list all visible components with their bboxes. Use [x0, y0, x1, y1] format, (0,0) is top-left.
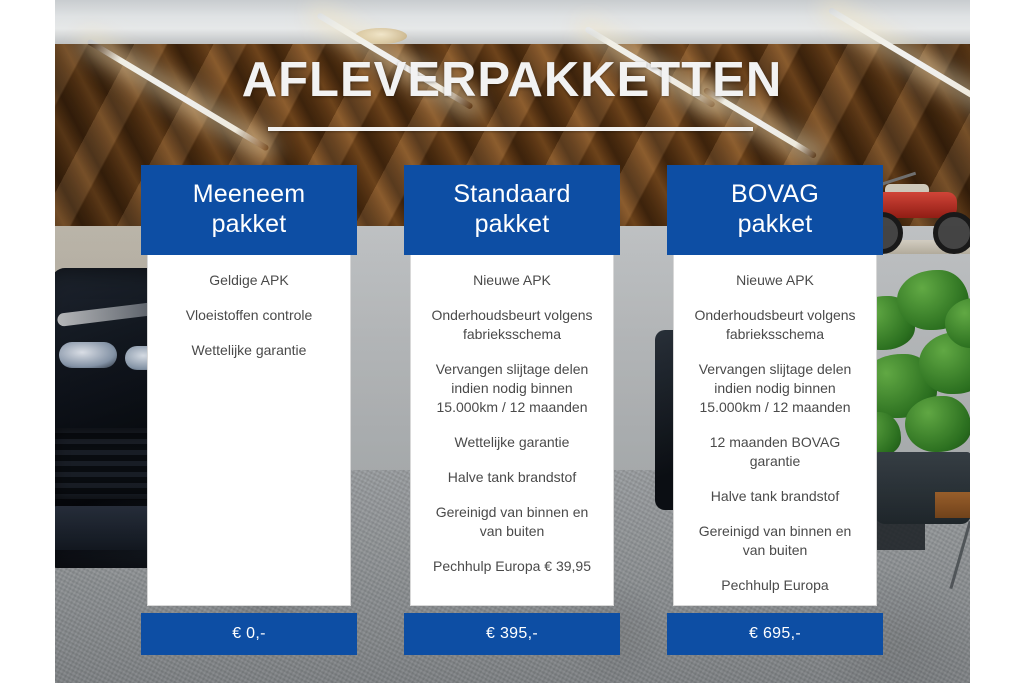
package-feature: Wettelijke garantie — [423, 433, 601, 452]
package-name-line2: pakket — [673, 209, 877, 239]
package-feature: Gereinigd van binnen en van buiten — [686, 522, 864, 560]
package-feature-list: Nieuwe APK Onderhoudsbeurt volgens fabri… — [673, 255, 877, 606]
package-card-header: Standaard pakket — [404, 165, 620, 255]
package-feature: Pechhulp Europa € 39,95 — [423, 557, 601, 576]
package-card-header: Meeneem pakket — [141, 165, 357, 255]
package-name-line1: Standaard — [410, 179, 614, 209]
package-feature: Gereinigd van binnen en van buiten — [423, 503, 601, 541]
package-feature: Vloeistoffen controle — [160, 306, 338, 325]
package-name-line2: pakket — [147, 209, 351, 239]
package-name-line1: BOVAG — [673, 179, 877, 209]
package-name-line2: pakket — [410, 209, 614, 239]
package-feature: Wettelijke garantie — [160, 341, 338, 360]
package-feature: Nieuwe APK — [423, 271, 601, 290]
package-cards: Meeneem pakket Geldige APK Vloeistoffen … — [0, 0, 1024, 683]
package-card-standaard[interactable]: Standaard pakket Nieuwe APK Onderhoudsbe… — [404, 165, 620, 606]
package-name-line1: Meeneem — [147, 179, 351, 209]
package-feature: Geldige APK — [160, 271, 338, 290]
package-feature: Vervangen slijtage delen indien nodig bi… — [686, 360, 864, 417]
package-card-header: BOVAG pakket — [667, 165, 883, 255]
package-feature: Halve tank brandstof — [423, 468, 601, 487]
package-feature-list: Nieuwe APK Onderhoudsbeurt volgens fabri… — [410, 255, 614, 606]
package-feature-list: Geldige APK Vloeistoffen controle Wettel… — [147, 255, 351, 606]
package-feature: Pechhulp Europa — [686, 576, 864, 595]
package-feature: 12 maanden BOVAG garantie — [686, 433, 864, 471]
package-feature: Onderhoudsbeurt volgens fabrieksschema — [686, 306, 864, 344]
package-price[interactable]: € 0,- — [141, 613, 357, 655]
package-card-bovag[interactable]: BOVAG pakket Nieuwe APK Onderhoudsbeurt … — [667, 165, 883, 606]
package-feature: Halve tank brandstof — [686, 487, 864, 506]
package-price[interactable]: € 695,- — [667, 613, 883, 655]
package-feature: Onderhoudsbeurt volgens fabrieksschema — [423, 306, 601, 344]
package-feature: Nieuwe APK — [686, 271, 864, 290]
package-feature: Vervangen slijtage delen indien nodig bi… — [423, 360, 601, 417]
slide-root: AFLEVERPAKKETTEN Meeneem pakket Geldige … — [0, 0, 1024, 683]
package-price[interactable]: € 395,- — [404, 613, 620, 655]
package-card-meeneem[interactable]: Meeneem pakket Geldige APK Vloeistoffen … — [141, 165, 357, 606]
